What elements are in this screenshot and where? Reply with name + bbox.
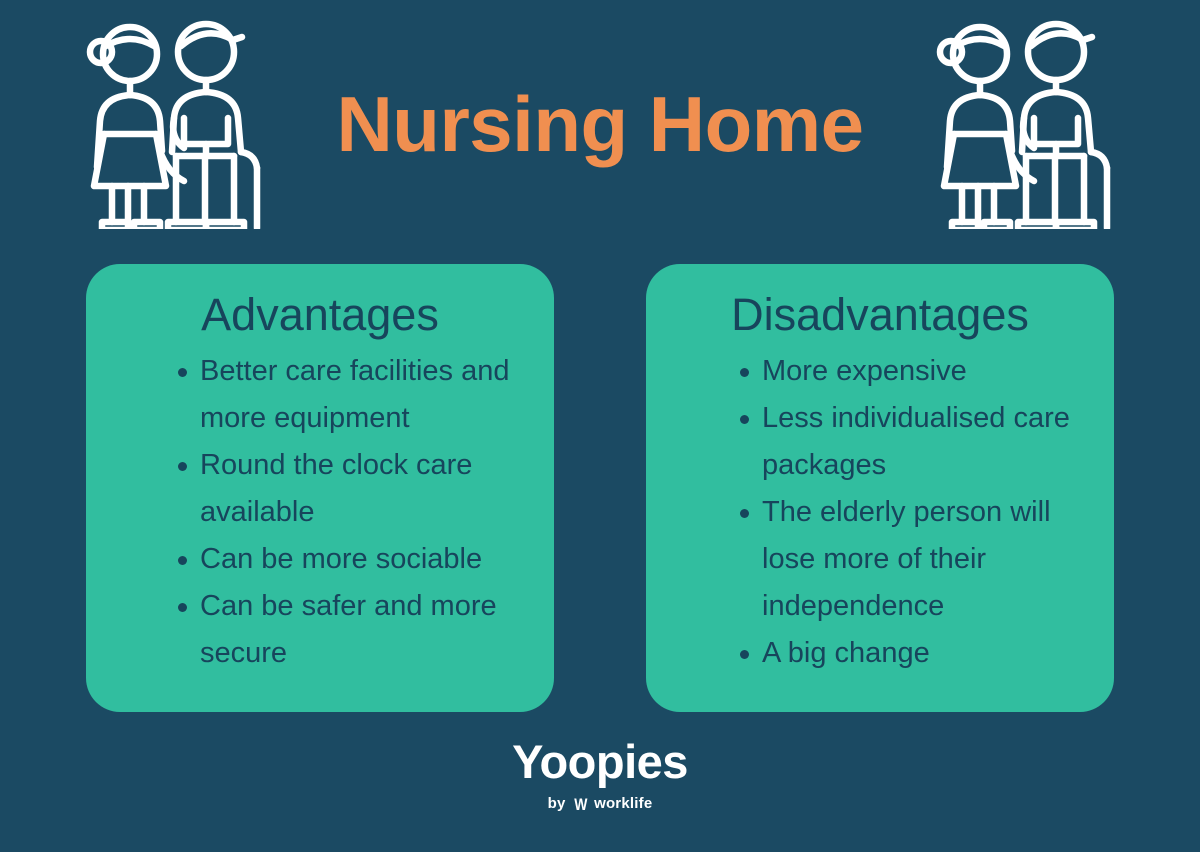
list-item-label: More expensive [762,355,967,387]
advantages-card: Advantages Better care facilities and mo… [86,264,554,712]
list-item: Can be more sociable [166,536,544,583]
list-item-label: Can be safer and more secure [200,590,497,669]
elderly-couple-icon [72,14,287,229]
list-item-label: Better care facilities and more equipmen… [200,355,509,434]
header: Nursing Home [0,0,1200,250]
bullet-icon [740,650,749,659]
advantages-heading: Advantages [86,288,554,342]
list-item: A big change [728,630,1104,677]
bullet-icon [178,368,187,377]
bullet-icon [178,556,187,565]
brand-name: Yoopies [0,736,1200,788]
list-item: Can be safer and more secure [166,583,544,677]
list-item: More expensive [728,348,1104,395]
advantages-list: Better care facilities and more equipmen… [86,348,554,677]
list-item-label: Round the clock care available [200,449,472,528]
footer-logo: Yoopies by W worklife [0,736,1200,814]
list-item-label: Can be more sociable [200,543,482,575]
by-label: by [548,794,566,814]
bullet-icon [178,603,187,612]
bullet-icon [740,415,749,424]
list-item-label: Less individualised care packages [762,402,1070,481]
list-item: Round the clock care available [166,442,544,536]
list-item: Better care facilities and more equipmen… [166,348,544,442]
bullet-icon [178,462,187,471]
partner-name: worklife [594,794,652,814]
bullet-icon [740,509,749,518]
list-item-label: The elderly person will lose more of the… [762,496,1051,622]
bullet-icon [740,368,749,377]
list-item-label: A big change [762,637,930,669]
disadvantages-card: Disadvantages More expensive Less indivi… [646,264,1114,712]
page-title: Nursing Home [290,76,910,172]
list-item: Less individualised care packages [728,395,1104,489]
disadvantages-list: More expensive Less individualised care … [646,348,1114,677]
worklife-logo-icon: W [574,796,586,813]
elderly-couple-icon [922,14,1137,229]
disadvantages-heading: Disadvantages [646,288,1114,342]
brand-byline: by W worklife [0,794,1200,814]
list-item: The elderly person will lose more of the… [728,489,1104,630]
